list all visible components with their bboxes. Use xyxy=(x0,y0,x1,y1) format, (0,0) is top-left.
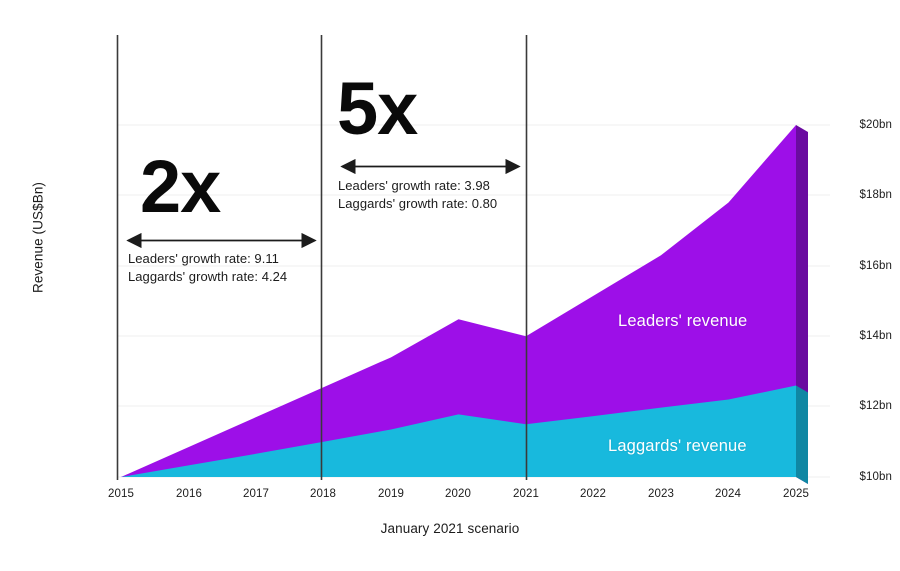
y-axis-title: Revenue (US$Bn) xyxy=(31,148,46,328)
annotation-second-growth-rates: Leaders' growth rate: 3.98 Laggards' gro… xyxy=(338,177,497,214)
y-tick-label: $14bn xyxy=(792,330,900,342)
x-tick-label: 2020 xyxy=(445,488,471,500)
annotation-second-leaders-rate: Leaders' growth rate: 3.98 xyxy=(338,177,497,195)
x-tick-label: 2024 xyxy=(715,488,741,500)
x-tick-label: 2022 xyxy=(580,488,606,500)
annotation-second-laggards-rate: Laggards' growth rate: 0.80 xyxy=(338,195,497,213)
multiple-label-2x: 2x xyxy=(140,150,220,224)
x-axis-title: January 2021 scenario xyxy=(0,521,900,536)
x-tick-label: 2018 xyxy=(310,488,336,500)
y-tick-label: $16bn xyxy=(792,260,900,272)
revenue-area-chart: Revenue (US$Bn) $20bn $18bn $16bn $14bn … xyxy=(0,0,900,571)
x-tick-label: 2021 xyxy=(513,488,539,500)
x-tick-label: 2016 xyxy=(176,488,202,500)
x-tick-label: 2015 xyxy=(108,488,134,500)
x-tick-label: 2019 xyxy=(378,488,404,500)
x-tick-label: 2023 xyxy=(648,488,674,500)
annotation-first-leaders-rate: Leaders' growth rate: 9.11 xyxy=(128,250,287,268)
series-label-laggards: Laggards' revenue xyxy=(608,437,747,456)
x-tick-label: 2025 xyxy=(783,488,809,500)
y-tick-label: $18bn xyxy=(792,189,900,201)
series-label-leaders: Leaders' revenue xyxy=(618,312,747,331)
annotation-first-growth-rates: Leaders' growth rate: 9.11 Laggards' gro… xyxy=(128,250,287,287)
y-tick-label: $20bn xyxy=(792,119,900,131)
annotation-first-laggards-rate: Laggards' growth rate: 4.24 xyxy=(128,268,287,286)
multiple-label-5x: 5x xyxy=(337,72,417,146)
y-tick-label: $12bn xyxy=(792,400,900,412)
y-tick-label: $10bn xyxy=(792,471,900,483)
x-tick-label: 2017 xyxy=(243,488,269,500)
